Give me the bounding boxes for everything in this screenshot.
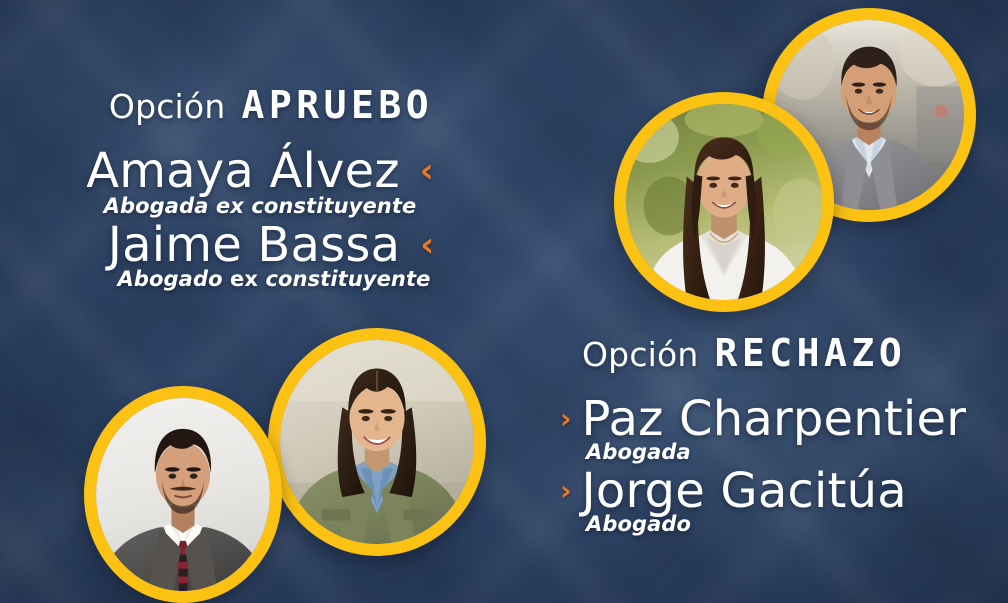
apruebo-candidate-1-name: Amaya Álvez: [86, 146, 400, 197]
rechazo-group: OpciónRECHAZO › Paz Charpentier Abogada …: [560, 334, 1008, 536]
apruebo-candidate-1-role: Abogada ex constituyente: [0, 195, 520, 218]
apruebo-candidate-1-role-suffix: constituyente: [251, 194, 416, 218]
apruebo-candidate-2-role-suffix: constituyente: [265, 267, 430, 291]
apruebo-candidate-1-role-prefix: Abogada: [104, 194, 209, 218]
chevron-right-icon: ›: [560, 477, 572, 505]
apruebo-candidate-2-role-prefix: Abogado: [118, 267, 223, 291]
apruebo-heading: OpciónAPRUEBO: [22, 86, 520, 124]
photo-amaya-alvez-image: [626, 104, 822, 300]
graphic-stage: OpciónAPRUEBO Amaya Álvez ‹ Abogada ex c…: [0, 0, 1008, 603]
rechazo-candidate-1: › Paz Charpentier: [560, 394, 1008, 445]
chevron-left-icon: ‹: [420, 228, 434, 262]
photo-amaya-alvez: [614, 92, 834, 312]
rechazo-heading: OpciónRECHAZO: [560, 334, 1008, 372]
apruebo-option-word: Opción: [109, 87, 226, 126]
apruebo-candidate-2-role: Abogado ex constituyente: [0, 268, 520, 291]
apruebo-candidate-1-role-ex: ex: [216, 194, 244, 218]
photo-jorge-gacitua: [84, 386, 282, 603]
apruebo-group: OpciónAPRUEBO Amaya Álvez ‹ Abogada ex c…: [0, 86, 520, 291]
rechazo-option-name: RECHAZO: [715, 331, 907, 375]
apruebo-candidate-2: Jaime Bassa ‹: [0, 220, 520, 271]
chevron-right-icon: ›: [560, 405, 572, 433]
apruebo-candidate-2-name: Jaime Bassa: [108, 220, 400, 271]
apruebo-candidate-2-role-ex: ex: [230, 267, 258, 291]
photo-paz-charpentier-image: [280, 340, 474, 544]
rechazo-candidate-1-name: Paz Charpentier: [582, 394, 967, 445]
apruebo-candidate-1: Amaya Álvez ‹: [0, 146, 520, 197]
photo-jorge-gacitua-image: [96, 398, 270, 591]
rechazo-option-word: Opción: [582, 335, 699, 374]
rechazo-candidate-2-name: Jorge Gacitúa: [582, 466, 907, 517]
photo-paz-charpentier: [268, 328, 486, 556]
rechazo-candidate-2: › Jorge Gacitúa: [560, 466, 1008, 517]
chevron-left-icon: ‹: [420, 154, 434, 188]
apruebo-option-name: APRUEBO: [241, 83, 433, 127]
